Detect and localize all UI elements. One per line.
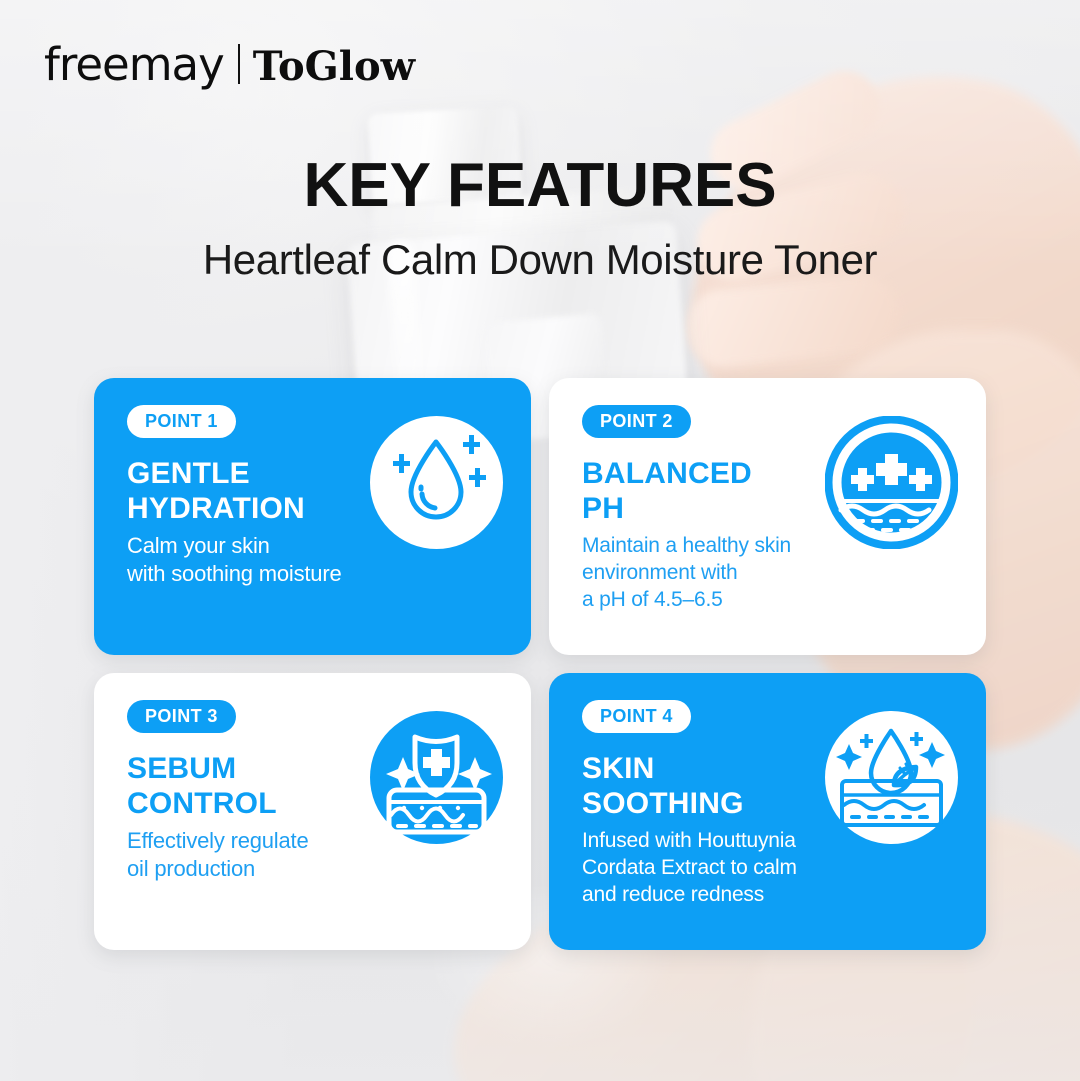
page-subtitle: Heartleaf Calm Down Moisture Toner bbox=[0, 237, 1080, 283]
card-title-line: CONTROL bbox=[127, 786, 377, 821]
card-body-line: with soothing moisture bbox=[127, 560, 427, 589]
feature-card-point-3[interactable]: POINT 3 SEBUM CONTROL Effectively regula… bbox=[94, 673, 531, 950]
card-title-2: BALANCED PH bbox=[582, 456, 832, 527]
badge-point-4: POINT 4 bbox=[582, 700, 691, 733]
card-title-line: SOOTHING bbox=[582, 786, 832, 821]
card-body-line: Cordata Extract to calm bbox=[582, 854, 882, 881]
droplet-leaf-skin-icon bbox=[825, 711, 958, 844]
card-title-line: SEBUM bbox=[127, 751, 377, 786]
card-body-line: oil production bbox=[127, 855, 427, 884]
feature-card-point-4[interactable]: POINT 4 SKIN SOOTHING Infused with Houtt… bbox=[549, 673, 986, 950]
infographic-canvas: freemay ToGlow KEY FEATURES Heartleaf Ca… bbox=[0, 0, 1080, 1081]
card-title-line: PH bbox=[582, 491, 832, 526]
card-body-line: environment with bbox=[582, 559, 882, 586]
feature-card-point-1[interactable]: POINT 1 GENTLE HYDRATION Calm your skin … bbox=[94, 378, 531, 655]
badge-point-1: POINT 1 bbox=[127, 405, 236, 438]
card-body-line: a pH of 4.5–6.5 bbox=[582, 586, 882, 613]
brand-sub-name: ToGlow bbox=[253, 47, 415, 87]
brand-logo: freemay ToGlow bbox=[44, 40, 415, 87]
water-droplet-sparkle-icon bbox=[370, 416, 503, 549]
shield-skin-layers-icon bbox=[370, 711, 503, 844]
card-title-line: GENTLE bbox=[127, 456, 377, 491]
ph-balance-circle-icon bbox=[825, 416, 958, 549]
logo-divider bbox=[238, 44, 240, 84]
feature-card-grid: POINT 1 GENTLE HYDRATION Calm your skin … bbox=[94, 378, 986, 950]
card-body-line: and reduce redness bbox=[582, 881, 882, 908]
badge-point-2: POINT 2 bbox=[582, 405, 691, 438]
feature-card-point-2[interactable]: POINT 2 BALANCED PH Maintain a healthy s… bbox=[549, 378, 986, 655]
card-title-1: GENTLE HYDRATION bbox=[127, 456, 377, 527]
card-title-line: HYDRATION bbox=[127, 491, 377, 526]
badge-point-3: POINT 3 bbox=[127, 700, 236, 733]
card-title-4: SKIN SOOTHING bbox=[582, 751, 832, 822]
brand-name: freemay bbox=[44, 42, 224, 87]
card-title-line: SKIN bbox=[582, 751, 832, 786]
card-title-3: SEBUM CONTROL bbox=[127, 751, 377, 822]
page-title: KEY FEATURES bbox=[0, 155, 1080, 217]
card-title-line: BALANCED bbox=[582, 456, 832, 491]
